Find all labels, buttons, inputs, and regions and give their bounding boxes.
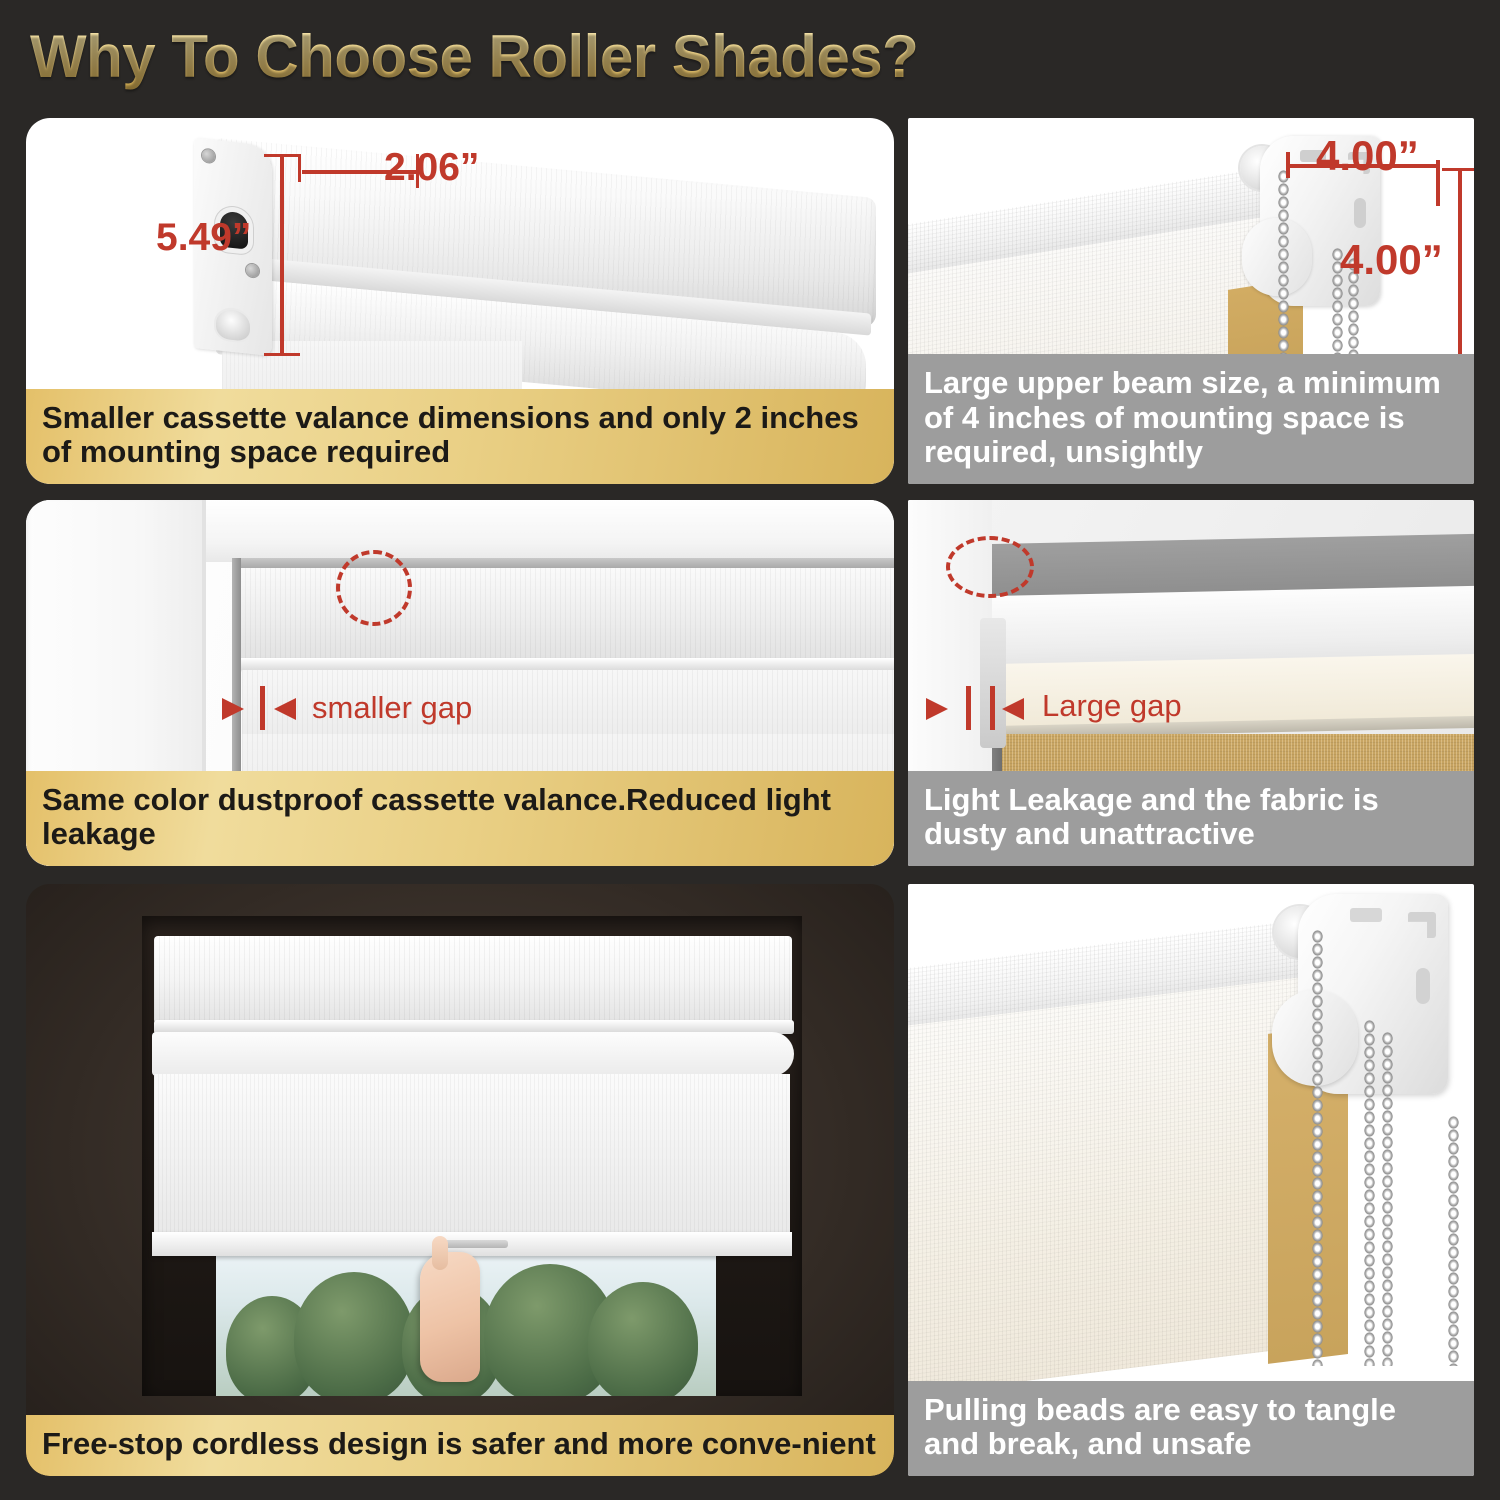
- screw-icon: [202, 149, 215, 163]
- caption-panel-e: Free-stop cordless design is safer and m…: [26, 1415, 894, 1476]
- end-cap-knob: [216, 308, 250, 342]
- gap-arrow-left-icon: [1002, 698, 1024, 720]
- gap-arrow-left-icon: [274, 698, 296, 720]
- panel-smaller-cassette: 2.06” 5.49” Smaller cassette valance dim…: [26, 118, 894, 484]
- dim-cap-top: [264, 154, 300, 157]
- dimension-label-height: 5.49”: [156, 216, 251, 260]
- dimension-label-height: 4.00”: [1340, 236, 1443, 284]
- dim-line-height-bottom: [280, 266, 284, 356]
- dim-line-height-top: [280, 154, 284, 194]
- hand-pulling-rail: [420, 1252, 480, 1382]
- caption-panel-f: Pulling beads are easy to tangle and bre…: [908, 1381, 1474, 1476]
- caption-panel-c: Same color dustproof cassette valance.Re…: [26, 771, 894, 866]
- caption-panel-d: Light Leakage and the fabric is dusty an…: [908, 771, 1474, 866]
- highlight-circle-icon: [946, 536, 1034, 598]
- page-title: Why To Choose Roller Shades?: [30, 22, 918, 91]
- gap-tick-left: [966, 686, 971, 730]
- caption-panel-b: Large upper beam size, a minimum of 4 in…: [908, 354, 1474, 484]
- dim-cap-bottom: [264, 353, 300, 356]
- screw-icon: [246, 263, 259, 277]
- window-header-trim: [206, 500, 894, 562]
- gap-arrow-right-icon: [222, 698, 244, 720]
- gap-tick: [260, 686, 265, 730]
- shade-mid-rail: [240, 658, 894, 670]
- panel-cordless-design: Free-stop cordless design is safer and m…: [26, 884, 894, 1476]
- shade-top-rail: [238, 558, 894, 568]
- panel-dustproof-valance: smaller gap Same color dustproof cassett…: [26, 500, 894, 866]
- shade-fabric: [154, 1074, 790, 1234]
- highlight-circle-icon: [336, 550, 412, 626]
- cassette-valance: [154, 936, 792, 1024]
- bracket-top-slot-icon: [1350, 908, 1382, 922]
- bracket-lobe: [1242, 218, 1312, 296]
- bottom-rail-grip: [438, 1240, 508, 1248]
- gap-arrow-right-icon: [926, 698, 948, 720]
- gap-label: smaller gap: [312, 690, 472, 726]
- panel-large-beam: 4.00” 4.00” Large upper beam size, a min…: [908, 118, 1474, 484]
- bracket-slot-icon: [1416, 968, 1430, 1004]
- dim-tick-right: [1436, 160, 1440, 206]
- roller-tube: [152, 1032, 794, 1076]
- tree: [588, 1282, 698, 1396]
- bracket-notch-icon: [1408, 912, 1436, 938]
- dimension-label-width: 4.00”: [1316, 132, 1419, 180]
- bead-chain: [1382, 1032, 1393, 1366]
- infographic-root: Why To Choose Roller Shades? 2.06”: [0, 0, 1500, 1500]
- dim-tick-left: [298, 154, 301, 182]
- photo-room-window: [26, 884, 894, 1476]
- dim-line-height: [1458, 168, 1462, 368]
- tree: [294, 1272, 414, 1396]
- dimension-label-width: 2.06”: [384, 146, 479, 190]
- panel-light-leakage: Large gap Light Leakage and the fabric i…: [908, 500, 1474, 866]
- bead-chain: [1312, 930, 1323, 1366]
- caption-panel-a: Smaller cassette valance dimensions and …: [26, 389, 894, 484]
- bead-chain: [1364, 1020, 1375, 1366]
- gap-tick-right: [990, 686, 995, 730]
- gap-label: Large gap: [1042, 688, 1182, 724]
- panel-pulling-beads: Pulling beads are easy to tangle and bre…: [908, 884, 1474, 1476]
- bead-chain: [1448, 1116, 1459, 1366]
- bracket-slot-icon: [1354, 198, 1366, 228]
